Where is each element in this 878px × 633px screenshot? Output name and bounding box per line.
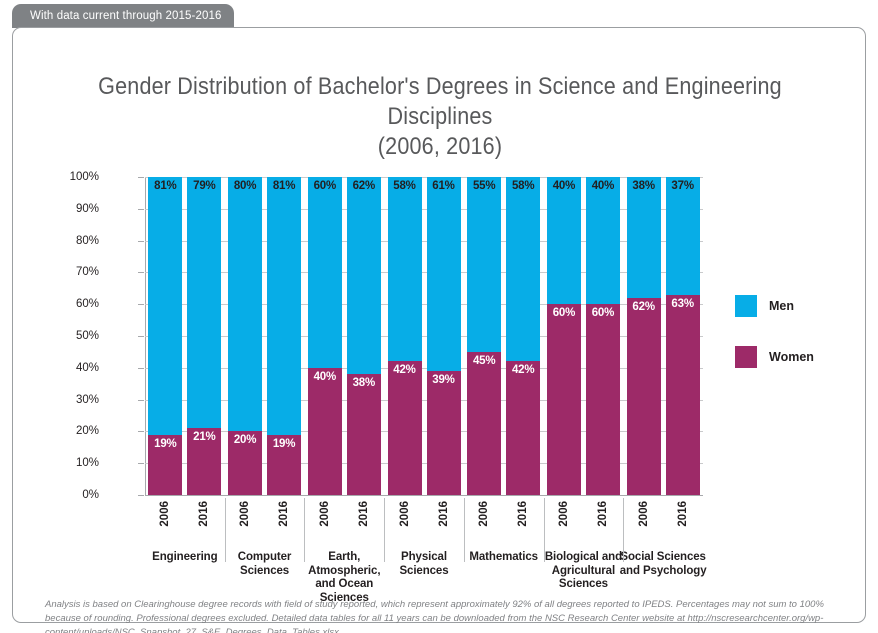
group-divider xyxy=(623,498,624,562)
bar-segment-women: 45% xyxy=(467,352,501,495)
bar-segment-men: 61% xyxy=(427,177,461,371)
bar-segment-men: 55% xyxy=(467,177,501,352)
bar-segment-women: 19% xyxy=(148,435,182,495)
y-axis-label: 40% xyxy=(39,362,99,374)
bar-segment-men: 80% xyxy=(228,177,262,431)
bar-segment-women: 63% xyxy=(666,295,700,495)
bar-label-men: 40% xyxy=(586,180,620,192)
y-axis-label: 90% xyxy=(39,203,99,215)
group-divider xyxy=(225,498,226,562)
bar-label-men: 37% xyxy=(666,180,700,192)
x-axis-year-label: 2006 xyxy=(467,501,501,547)
bar-label-women: 42% xyxy=(388,364,422,376)
bar-segment-men: 38% xyxy=(627,177,661,298)
x-axis-year-label: 2006 xyxy=(627,501,661,547)
bar: 40%60% xyxy=(547,177,581,495)
bar-segment-women: 38% xyxy=(347,374,381,495)
bar-label-women: 40% xyxy=(308,371,342,383)
group-divider xyxy=(544,498,545,562)
bar-label-women: 38% xyxy=(347,377,381,389)
y-axis-tick xyxy=(138,400,144,401)
bar-segment-women: 42% xyxy=(388,361,422,495)
y-axis-label: 0% xyxy=(39,489,99,501)
bar-segment-women: 62% xyxy=(627,298,661,495)
y-axis-tick xyxy=(138,209,144,210)
x-axis-category-label: Social Sciencesand Psychology xyxy=(617,551,709,578)
x-axis-category-label: Mathematics xyxy=(458,551,550,565)
bar-segment-women: 20% xyxy=(228,431,262,495)
bar: 58%42% xyxy=(388,177,422,495)
bar-label-women: 62% xyxy=(627,301,661,313)
legend-item-women: Women xyxy=(735,345,855,369)
bar-label-men: 58% xyxy=(388,180,422,192)
legend-item-men: Men xyxy=(735,294,855,318)
bar: 62%38% xyxy=(347,177,381,495)
x-axis-year-label: 2016 xyxy=(267,501,301,547)
legend-swatch-men-icon xyxy=(735,295,757,317)
bar-label-women: 19% xyxy=(148,438,182,450)
bar-segment-men: 37% xyxy=(666,177,700,295)
bar-label-men: 61% xyxy=(427,180,461,192)
bar-segment-men: 58% xyxy=(388,177,422,361)
bar-label-men: 81% xyxy=(267,180,301,192)
y-axis-tick xyxy=(138,304,144,305)
y-axis-label: 60% xyxy=(39,298,99,310)
chart-page: With data current through 2015-2016 Gend… xyxy=(0,0,878,633)
bar-segment-women: 21% xyxy=(187,428,221,495)
y-axis-tick xyxy=(138,431,144,432)
bar: 40%60% xyxy=(586,177,620,495)
bar: 81%19% xyxy=(148,177,182,495)
legend-label-women: Women xyxy=(769,350,814,364)
x-axis-year-label: 2006 xyxy=(308,501,342,547)
y-axis-label: 30% xyxy=(39,394,99,406)
x-axis-category-label: ComputerSciences xyxy=(219,551,311,578)
bar-segment-women: 42% xyxy=(506,361,540,495)
x-axis-category-label: PhysicalSciences xyxy=(378,551,470,578)
page-title-line1: Gender Distribution of Bachelor's Degree… xyxy=(98,73,782,130)
y-axis-tick xyxy=(138,177,144,178)
x-axis-year-label: 2016 xyxy=(586,501,620,547)
group-divider xyxy=(304,498,305,562)
bar-label-men: 40% xyxy=(547,180,581,192)
bar-label-women: 42% xyxy=(506,364,540,376)
bar-label-women: 63% xyxy=(666,298,700,310)
y-axis-tick xyxy=(138,336,144,337)
bar-label-men: 60% xyxy=(308,180,342,192)
y-axis-label: 100% xyxy=(39,171,99,183)
y-axis-tick xyxy=(138,463,144,464)
bar-segment-men: 79% xyxy=(187,177,221,428)
x-axis-category-label: Earth,Atmospheric,and OceanSciences xyxy=(298,551,390,605)
y-axis-tick xyxy=(138,241,144,242)
y-axis-label: 20% xyxy=(39,425,99,437)
bar-label-women: 20% xyxy=(228,434,262,446)
x-axis-category-label: Engineering xyxy=(139,551,231,565)
chart-legend: Men Women xyxy=(735,294,855,369)
x-axis-year-label: 2006 xyxy=(228,501,262,547)
x-axis-year-label: 2006 xyxy=(148,501,182,547)
bar-label-men: 81% xyxy=(148,180,182,192)
stacked-bar-chart: 81%19%79%21%80%20%81%19%60%40%62%38%58%4… xyxy=(101,149,721,589)
y-axis-label: 70% xyxy=(39,266,99,278)
legend-label-men: Men xyxy=(769,299,794,313)
bar-label-men: 62% xyxy=(347,180,381,192)
bar-label-women: 60% xyxy=(586,307,620,319)
bar-segment-men: 58% xyxy=(506,177,540,361)
bar-segment-women: 40% xyxy=(308,368,342,495)
gridline xyxy=(145,495,703,496)
bar-label-women: 21% xyxy=(187,431,221,443)
x-axis-year-label: 2006 xyxy=(547,501,581,547)
bar-segment-men: 40% xyxy=(547,177,581,304)
footnote: Analysis is based on Clearinghouse degre… xyxy=(45,598,853,633)
bar-segment-men: 40% xyxy=(586,177,620,304)
bar-segment-men: 81% xyxy=(148,177,182,435)
group-divider xyxy=(384,498,385,562)
x-axis-year-label: 2016 xyxy=(666,501,700,547)
legend-swatch-women-icon xyxy=(735,346,757,368)
bar-label-women: 45% xyxy=(467,355,501,367)
bar-segment-women: 39% xyxy=(427,371,461,495)
bar-label-women: 39% xyxy=(427,374,461,386)
x-axis-year-label: 2016 xyxy=(187,501,221,547)
x-axis-category-label: Biological andAgriculturalSciences xyxy=(538,551,630,592)
bar: 79%21% xyxy=(187,177,221,495)
bar: 55%45% xyxy=(467,177,501,495)
y-axis-tick xyxy=(138,495,144,496)
plot-area: 81%19%79%21%80%20%81%19%60%40%62%38%58%4… xyxy=(145,177,703,495)
bar-segment-men: 60% xyxy=(308,177,342,368)
x-axis-year-label: 2016 xyxy=(506,501,540,547)
bar-label-men: 79% xyxy=(187,180,221,192)
bar-segment-men: 81% xyxy=(267,177,301,435)
group-divider xyxy=(464,498,465,562)
y-axis-label: 80% xyxy=(39,235,99,247)
data-currency-tab-label: With data current through 2015-2016 xyxy=(12,10,221,22)
bar-label-men: 55% xyxy=(467,180,501,192)
bar-label-men: 38% xyxy=(627,180,661,192)
y-axis-tick xyxy=(138,272,144,273)
bar-segment-women: 19% xyxy=(267,435,301,495)
y-axis-label: 50% xyxy=(39,330,99,342)
data-currency-tab: With data current through 2015-2016 xyxy=(12,4,234,28)
bar: 58%42% xyxy=(506,177,540,495)
bar-label-women: 19% xyxy=(267,438,301,450)
bar: 60%40% xyxy=(308,177,342,495)
bar-label-women: 60% xyxy=(547,307,581,319)
bar: 81%19% xyxy=(267,177,301,495)
bar-label-men: 58% xyxy=(506,180,540,192)
x-axis-year-label: 2016 xyxy=(427,501,461,547)
bar-label-men: 80% xyxy=(228,180,262,192)
chart-panel: Gender Distribution of Bachelor's Degree… xyxy=(12,27,866,623)
bar: 61%39% xyxy=(427,177,461,495)
bar: 37%63% xyxy=(666,177,700,495)
bar-segment-men: 62% xyxy=(347,177,381,374)
x-axis-year-label: 2006 xyxy=(388,501,422,547)
y-axis-label: 10% xyxy=(39,457,99,469)
bar-segment-women: 60% xyxy=(586,304,620,495)
bar: 80%20% xyxy=(228,177,262,495)
bar: 38%62% xyxy=(627,177,661,495)
x-axis-year-label: 2016 xyxy=(347,501,381,547)
y-axis-tick xyxy=(138,368,144,369)
bar-segment-women: 60% xyxy=(547,304,581,495)
